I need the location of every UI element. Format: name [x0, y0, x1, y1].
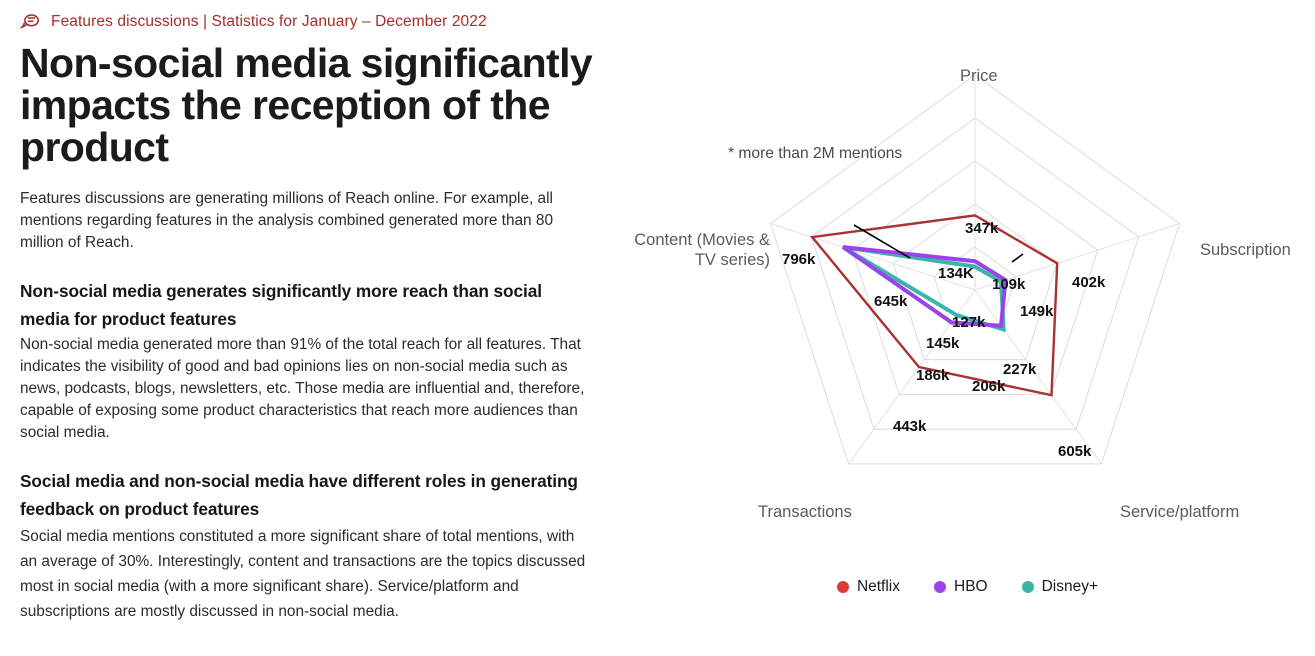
chart-legend: Netflix HBO Disney+ — [620, 578, 1315, 596]
data-label-disney-price: 109k — [992, 277, 1025, 293]
data-label-hbo-content: 645k — [874, 294, 907, 310]
data-label-netflix-service-platform: 605k — [1058, 444, 1091, 460]
data-label-hbo-service-platform: 206k — [972, 379, 1005, 395]
section-body: Non-social media generated more than 91%… — [20, 334, 592, 444]
breadcrumb-label: Features discussions | Statistics for Ja… — [51, 13, 487, 31]
section-body: Social media mentions constituted a more… — [20, 524, 592, 624]
data-label-disney-subscription: 127k — [952, 315, 985, 331]
section-title: Social media and non-social media have d… — [20, 467, 596, 523]
axis-label-service-platform: Service/platform — [1120, 502, 1239, 522]
data-label-disney-service-platform: 227k — [1003, 362, 1036, 378]
breadcrumb: Features discussions | Statistics for Ja… — [20, 12, 596, 32]
data-label-hbo-price: 134K — [938, 266, 974, 282]
radar-grid — [771, 75, 1180, 464]
section-non-social-reach: Non-social media generates significantly… — [20, 277, 596, 444]
data-label-netflix-transactions: 443k — [893, 419, 926, 435]
text-column: Features discussions | Statistics for Ja… — [0, 0, 620, 656]
annotation-more-than-2m: * more than 2M mentions — [728, 144, 853, 164]
data-label-netflix-subscription: 402k — [1072, 275, 1105, 291]
infographic-page: Features discussions | Statistics for Ja… — [0, 0, 1315, 656]
axis-label-subscription: Subscription — [1200, 240, 1291, 260]
page-title: Non-social media significantly impacts t… — [20, 42, 596, 168]
section-roles-feedback: Social media and non-social media have d… — [20, 467, 596, 624]
data-label-disney-transactions: 145k — [926, 336, 959, 352]
legend-item-netflix[interactable]: Netflix — [837, 578, 900, 596]
legend-label-disney: Disney+ — [1042, 578, 1098, 596]
legend-label-netflix: Netflix — [857, 578, 900, 596]
data-label-netflix-price: 347k — [965, 221, 998, 237]
legend-dot-disney — [1022, 581, 1034, 593]
axis-label-content: Content (Movies & TV series) — [620, 230, 770, 270]
axis-label-price: Price — [960, 66, 998, 86]
data-label-hbo-transactions: 186k — [916, 368, 949, 384]
chat-bubbles-icon — [20, 12, 42, 32]
legend-item-disney[interactable]: Disney+ — [1022, 578, 1098, 596]
legend-item-hbo[interactable]: HBO — [934, 578, 988, 596]
legend-dot-netflix — [837, 581, 849, 593]
axis-label-transactions: Transactions — [758, 502, 852, 522]
section-title: Interactions in social media — [20, 649, 596, 656]
data-label-netflix-content: 796k — [782, 252, 815, 268]
legend-label-hbo: HBO — [954, 578, 988, 596]
section-title: Non-social media generates significantly… — [20, 277, 596, 333]
legend-dot-hbo — [934, 581, 946, 593]
data-label-hbo-subscription: 149k — [1020, 304, 1053, 320]
radar-chart: Price Subscription Service/platform Tran… — [620, 0, 1315, 656]
section-interactions: Interactions in social media Only mentio… — [20, 649, 596, 656]
intro-paragraph: Features discussions are generating mill… — [20, 188, 592, 254]
